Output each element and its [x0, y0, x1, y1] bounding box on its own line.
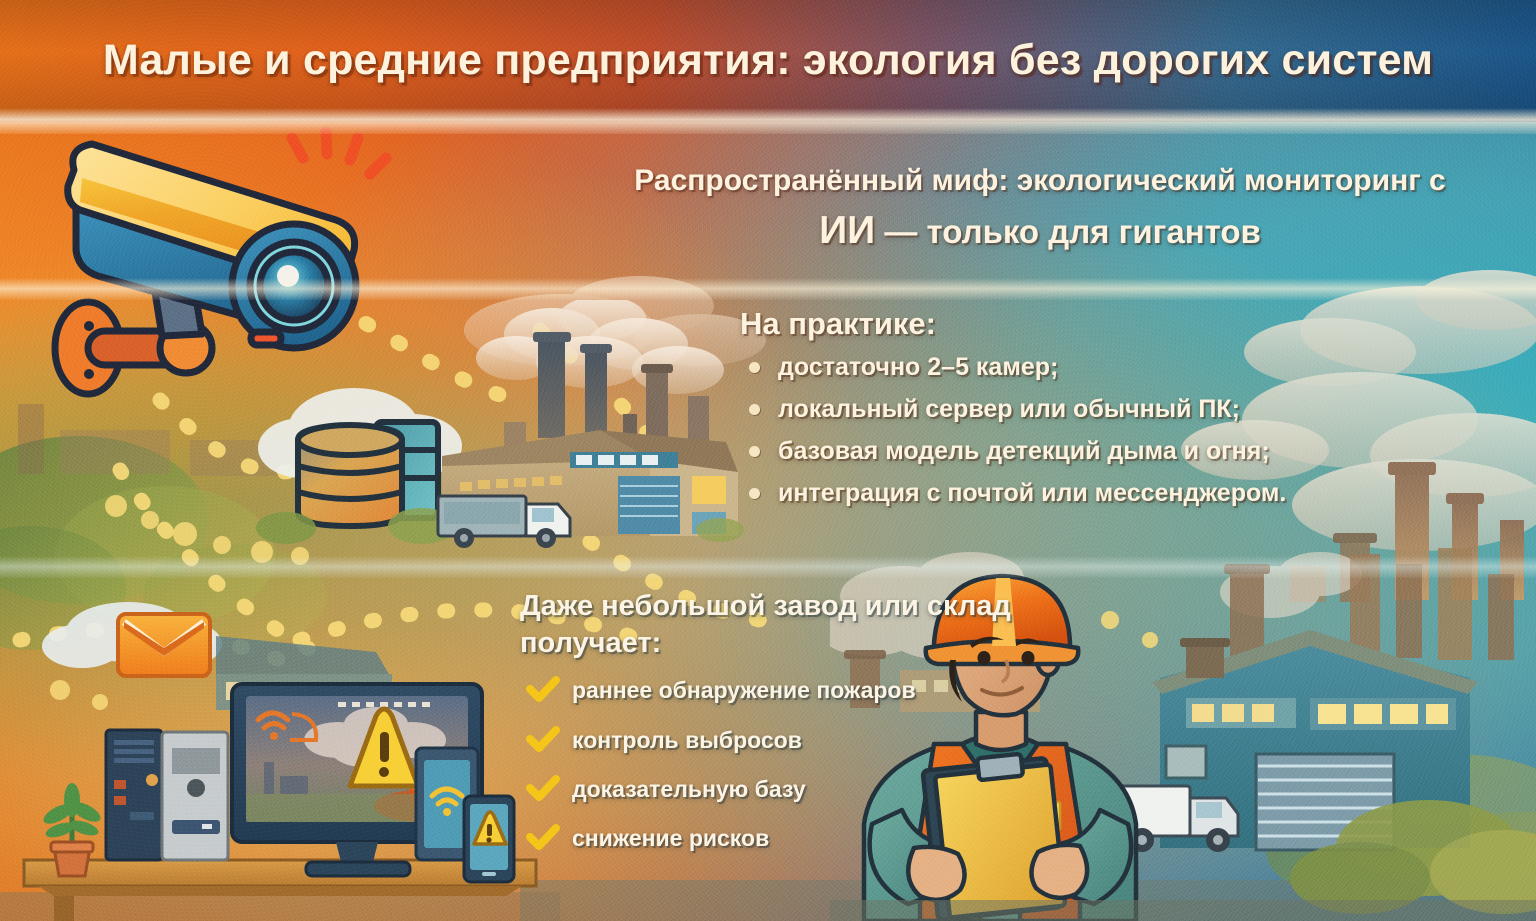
paper-grain-overlay-fine — [0, 0, 1536, 921]
infographic-poster: Малые и средние предприятия: экология бе… — [0, 0, 1536, 921]
